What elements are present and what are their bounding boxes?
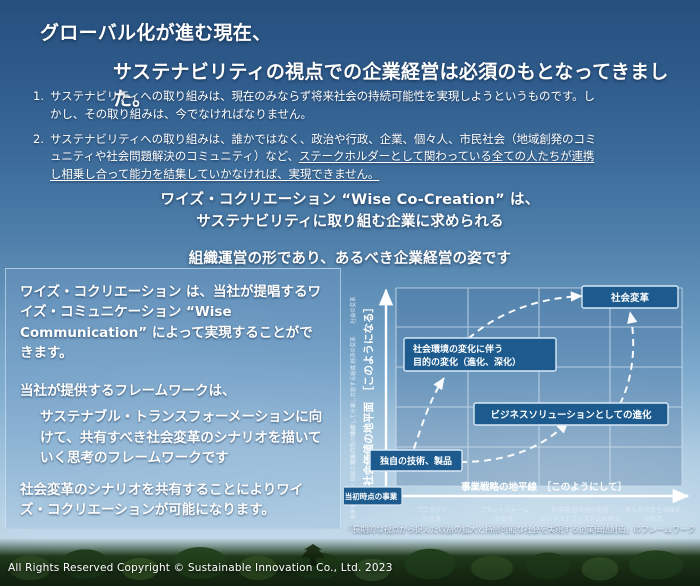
list-item-line: かし、その取り組みは、今でなければなりません。 xyxy=(50,107,312,121)
x-axis-tick-labels: プロダクト の変革 プラットフォーム の変革 新市場/経済圏の創造 ビジネスエコ… xyxy=(417,506,681,523)
y-axis-tick-labels: 社会の変革 経済の変革 自律して分業し共創する組織 社会問題の解決 未来を切り拓… xyxy=(349,296,357,519)
emphasis-line-1: ワイズ・コクリエーション “Wise Co-Creation” は、 xyxy=(0,190,700,212)
list-item-line-underlined: し相乗し合って能力を結集していかなければ、実現できません。 xyxy=(50,167,379,181)
list-item-line: サステナビリティへの取り組みは、誰かではなく、政治や行政、企業、個々人、市民社会… xyxy=(50,132,596,146)
slide-root: グローバル化が進む現在、 サステナビリティの視点での企業経営は必須のもとなってき… xyxy=(0,0,700,586)
list-item-line: サステナビリティへの取り組みは、現在のみならず将来社会の持続可能性を実現しようと… xyxy=(50,89,595,103)
left-info-panel: ワイズ・コクリエーション は、当社が提唱するワイズ・コミュニケーション “Wis… xyxy=(5,268,341,529)
node-own-technology[interactable]: 独自の技術、製品 xyxy=(370,450,462,471)
copyright-text: All Rights Reserved Copyright © Sustaina… xyxy=(8,562,393,574)
x-tick-label: の変革 xyxy=(495,515,514,523)
numbered-list: 1. サステナビリティへの取り組みは、現在のみならず将来社会の持続可能性を実現し… xyxy=(22,88,682,191)
x-tick-label: プロダクト xyxy=(417,506,448,514)
panel-paragraph-1: ワイズ・コクリエーション は、当社が提唱するワイズ・コミュニケーション “Wis… xyxy=(20,282,326,363)
emphasis-line-3: 組織運営の形であり、あるべき企業経営の姿です xyxy=(0,247,700,268)
x-tick-label: の創造 xyxy=(644,515,663,523)
diagram-caption: 「長期的な視点から捉えた収益の拡大と持続可能な社会を実現する企業価値創造」のフレ… xyxy=(344,524,696,535)
panel-paragraph-2: 当社が提供するフレームワークは、 xyxy=(20,379,326,399)
origin-label-text: 当初時点の事業 xyxy=(345,491,398,501)
x-tick-label: 新たな社会生活様式 xyxy=(625,506,681,514)
node-label: 社会変革 xyxy=(610,292,650,304)
node-social-transformation[interactable]: 社会変革 xyxy=(582,286,678,308)
x-tick-label: 新市場/経済圏の創造 xyxy=(551,506,609,514)
list-item-text: サステナビリティへの取り組みは、誰かではなく、政治や行政、企業、個々人、市民社会… xyxy=(50,131,596,184)
node-label: ビジネスソリューションとしての進化 xyxy=(490,409,652,421)
list-item: 1. サステナビリティへの取り組みは、現在のみならず将来社会の持続可能性を実現し… xyxy=(22,88,682,124)
emphasis-line-2: サステナビリティに取り組む企業に求められる xyxy=(0,212,700,234)
emphasis-block: ワイズ・コクリエーション “Wise Co-Creation” は、 サステナビ… xyxy=(0,190,700,268)
x-tick-label: ビジネスエコシステムの確立 xyxy=(540,515,620,523)
panel-paragraph-4: 社会変革のシナリオを共有することによりワイズ・コクリエーションが可能になります。 xyxy=(20,480,326,521)
node-label-line-2: 目的の変化（進化、深化） xyxy=(413,356,521,368)
list-item-line-underlined: ステークホルダーとして関わっている全ての人たちが連携 xyxy=(299,149,594,163)
node-label: 独自の技術、製品 xyxy=(379,455,452,467)
node-business-solution[interactable]: ビジネスソリューションとしての進化 xyxy=(474,403,668,425)
list-item-number: 2. xyxy=(22,131,50,184)
y-tick-label: 社会の変革 xyxy=(349,296,357,324)
list-item-line: ュニティや社会問題解決のコミュニティ）など、 xyxy=(50,149,299,163)
framework-matrix-diagram: 社会価値の地平面 ［このようになる］ 事業戦略の地平線 ［このようにして］ 社会… xyxy=(344,282,696,532)
x-tick-label: の変革 xyxy=(423,515,442,523)
y-tick-label: 経済の変革 xyxy=(349,336,357,364)
list-item-number: 1. xyxy=(22,88,50,124)
x-tick-label: プラットフォーム xyxy=(479,507,528,514)
headline-line-1: グローバル化が進む現在、 xyxy=(40,18,700,45)
list-item-text: サステナビリティへの取り組みは、現在のみならず将来社会の持続可能性を実現しようと… xyxy=(50,88,595,124)
node-label-line-1: 社会環境の変化に伴う xyxy=(412,343,503,355)
x-axis-title: 事業戦略の地平線 ［このようにして］ xyxy=(461,481,627,493)
node-purpose-change[interactable]: 社会環境の変化に伴う 目的の変化（進化、深化） xyxy=(404,338,556,371)
list-item: 2. サステナビリティへの取り組みは、誰かではなく、政治や行政、企業、個々人、市… xyxy=(22,131,682,184)
y-tick-label: 自律して分業し共創する組織 xyxy=(349,364,357,435)
origin-label: 当初時点の事業 xyxy=(344,487,402,505)
panel-paragraph-3: サステナブル・トランスフォーメーションに向けて、共有すべき社会変革のシナリオを描… xyxy=(40,407,326,469)
